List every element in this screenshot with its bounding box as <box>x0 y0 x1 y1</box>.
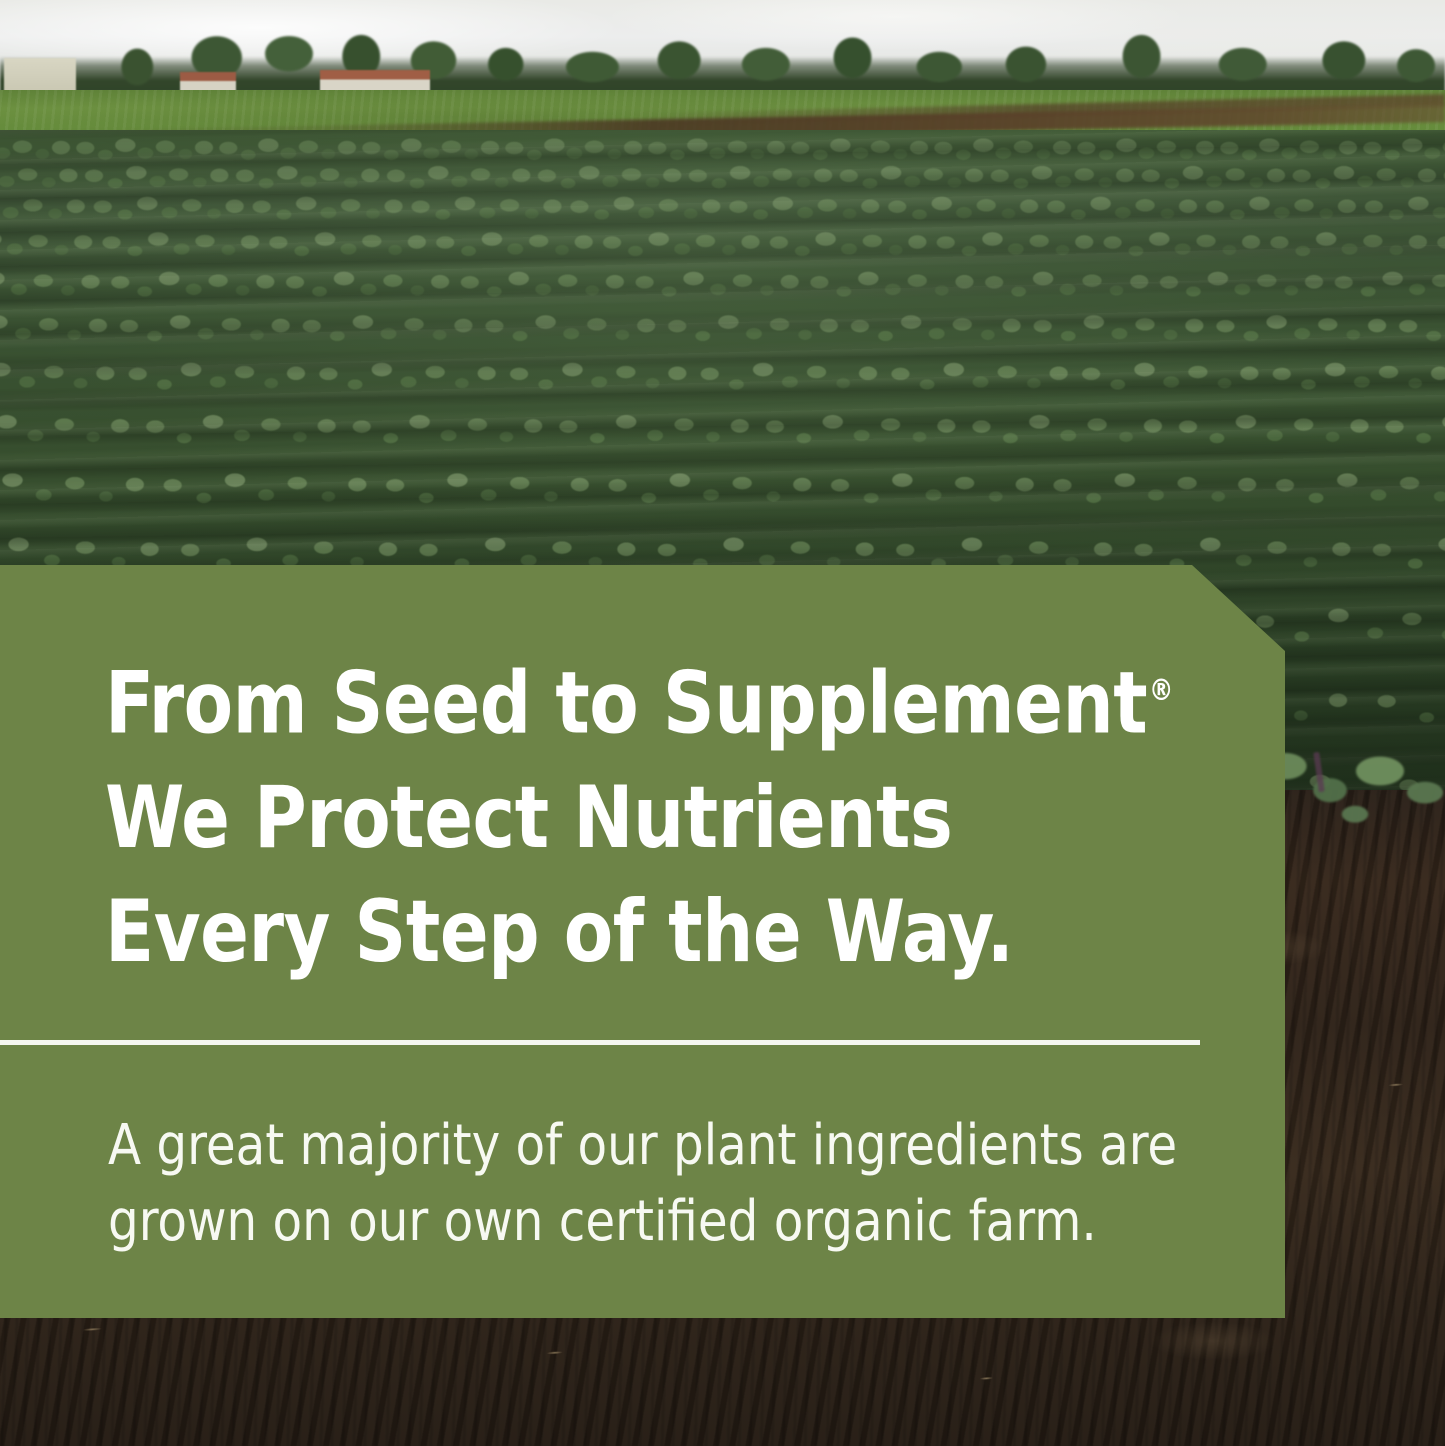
farm-building-barn <box>4 58 76 93</box>
headline-line-1: From Seed to Supplement® <box>105 636 1184 761</box>
horizontal-divider <box>0 1040 1200 1045</box>
page-title: From Seed to Supplement® We Protect Nutr… <box>105 636 1184 989</box>
registered-trademark-icon: ® <box>1149 673 1173 707</box>
headline-line-3: Every Step of the Way. <box>105 875 1184 989</box>
hero-banner: From Seed to Supplement® We Protect Nutr… <box>0 0 1445 1446</box>
headline-line-2: We Protect Nutrients <box>105 761 1184 875</box>
body-copy: A great majority of our plant ingredient… <box>108 1108 1202 1260</box>
body-line-2: grown on our own certified organic farm. <box>108 1184 1202 1260</box>
body-line-1: A great majority of our plant ingredient… <box>108 1108 1202 1184</box>
